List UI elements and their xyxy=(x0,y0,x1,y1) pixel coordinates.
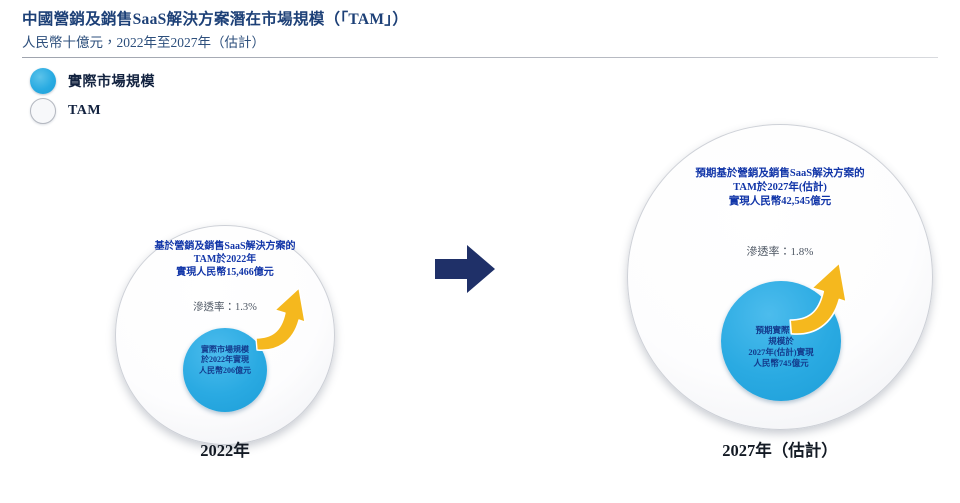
tam-text-2022-line-2: TAM於2022年 xyxy=(105,253,345,266)
tam-text-2027: 預期基於營銷及銷售SaaS解決方案的 TAM於2027年(估計) 實現人民幣42… xyxy=(625,167,935,209)
tam-text-2022-line-3: 實現人民幣15,466億元 xyxy=(105,266,345,279)
header: 中國營銷及銷售SaaS解決方案潛在市場規模（「TAM」） 人民幣十億元，2022… xyxy=(22,10,938,52)
tam-text-2027-line-3: 實現人民幣42,545億元 xyxy=(625,195,935,209)
page-title: 中國營銷及銷售SaaS解決方案潛在市場規模（「TAM」） xyxy=(22,10,938,30)
page-subtitle: 人民幣十億元，2022年至2027年（估計） xyxy=(22,33,938,52)
tam-text-2022: 基於營銷及銷售SaaS解決方案的 TAM於2022年 實現人民幣15,466億元 xyxy=(105,240,345,280)
growth-curve-arrow-2027-icon xyxy=(789,252,869,347)
header-divider xyxy=(22,57,938,58)
tam-text-2027-line-1: 預期基於營銷及銷售SaaS解決方案的 xyxy=(625,167,935,181)
actual-text-2027-line-4: 人民幣745億元 xyxy=(714,358,848,369)
legend-item-tam: TAM xyxy=(30,96,155,126)
tam-text-2022-line-1: 基於營銷及銷售SaaS解決方案的 xyxy=(105,240,345,253)
transition-arrow-icon xyxy=(435,243,495,295)
actual-text-2027-line-3: 2027年(估計)實現 xyxy=(714,347,848,358)
legend-swatch-tam-icon xyxy=(30,98,56,124)
legend-label-actual: 實際市場規模 xyxy=(68,71,155,91)
growth-curve-arrow-2022-icon xyxy=(255,280,325,360)
legend-swatch-actual-icon xyxy=(30,68,56,94)
year-label-2027: 2027年（估計） xyxy=(670,437,890,461)
infographic-root: 中國營銷及銷售SaaS解決方案潛在市場規模（「TAM」） 人民幣十億元，2022… xyxy=(0,0,960,503)
legend-item-actual: 實際市場規模 xyxy=(30,66,155,96)
legend: 實際市場規模 TAM xyxy=(30,66,155,126)
tam-text-2027-line-2: TAM於2027年(估計) xyxy=(625,181,935,195)
actual-text-2022-line-3: 人民幣206億元 xyxy=(180,366,270,376)
legend-label-tam: TAM xyxy=(68,103,101,119)
year-label-2022: 2022年 xyxy=(155,437,295,461)
